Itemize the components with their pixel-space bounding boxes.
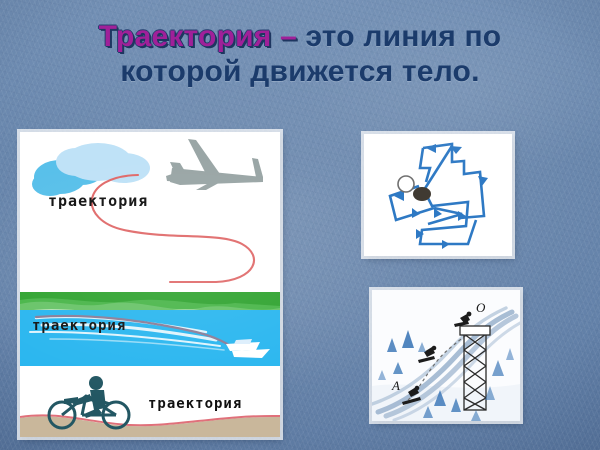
- body-marker-icon: [413, 187, 431, 201]
- title-dash: –: [280, 20, 297, 53]
- title-line-1-rest: это линия по: [305, 20, 501, 53]
- title-line-2: которой движется тело.: [0, 55, 600, 90]
- illustration-panel-ski-jump: O A: [372, 290, 520, 421]
- illustration-panel-path: [364, 134, 512, 256]
- point-label-a: A: [391, 378, 400, 393]
- page-title: Траектория – это линия по которой движет…: [0, 20, 600, 90]
- scene-bicycle: траектория: [20, 370, 280, 437]
- point-label-o: O: [476, 300, 486, 315]
- trajectory-label-airplane: траектория: [48, 192, 148, 210]
- title-keyword: Траектория: [99, 20, 272, 53]
- zigzag-path-graphic: [364, 134, 512, 256]
- scene-airplane: траектория: [20, 132, 280, 292]
- trajectory-label-boat: траектория: [32, 318, 126, 334]
- start-marker-icon: [398, 176, 414, 192]
- slide-canvas: Траектория – это линия по которой движет…: [0, 0, 600, 450]
- title-line-1: Траектория – это линия по: [0, 20, 600, 55]
- trajectory-label-bicycle: траектория: [148, 396, 242, 412]
- ski-jump-graphic: O A: [372, 290, 520, 421]
- airplane-scene-graphic: [20, 132, 280, 292]
- illustration-panel-left: траектория: [20, 132, 280, 437]
- scene-boat: траектория: [20, 292, 280, 370]
